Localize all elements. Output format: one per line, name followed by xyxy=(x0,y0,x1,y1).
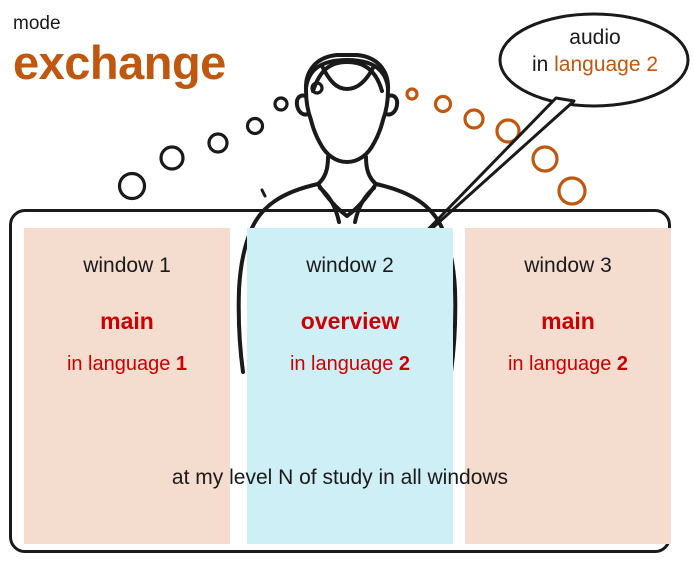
bubble-circle-orange xyxy=(533,147,557,171)
bubble-circle-black xyxy=(312,83,322,93)
bubble-circle-orange xyxy=(497,120,519,142)
bubble-circle-orange xyxy=(465,110,483,128)
footer-note: at my level N of study in all windows xyxy=(9,467,671,488)
window-1-language-prefix: in language xyxy=(67,353,176,375)
orange-circles-group xyxy=(407,89,585,204)
window-2-language-number: 2 xyxy=(399,353,410,375)
window-3-kind: main xyxy=(465,310,671,333)
black-circles-group xyxy=(120,83,323,199)
speech-bubble-line-2-accent: language 2 xyxy=(554,53,658,76)
bubble-circle-orange xyxy=(436,97,451,112)
window-3-language-number: 2 xyxy=(617,353,628,375)
window-2-kind: overview xyxy=(247,310,453,333)
window-3-language-prefix: in language xyxy=(508,353,617,375)
window-1-language-number: 1 xyxy=(176,353,187,375)
page-title: exchange xyxy=(13,38,226,87)
window-2-title: window 2 xyxy=(247,255,453,276)
bubble-circle-black xyxy=(120,174,145,199)
window-1-language: in language 1 xyxy=(24,354,230,374)
speech-bubble-line-2: in language 2 xyxy=(498,52,692,79)
speech-bubble-line-2-prefix: in xyxy=(532,53,554,76)
bubble-circle-orange xyxy=(407,89,417,99)
bubble-circle-orange xyxy=(559,178,585,204)
window-3-language: in language 2 xyxy=(465,354,671,374)
window-2-language-prefix: in language xyxy=(290,353,399,375)
bubble-circle-black xyxy=(209,134,227,152)
bubble-circle-black xyxy=(275,98,287,110)
window-3-title: window 3 xyxy=(465,255,671,276)
speech-bubble-line-1: audio xyxy=(498,25,692,52)
window-2-language: in language 2 xyxy=(247,354,453,374)
window-1-title: window 1 xyxy=(24,255,230,276)
window-1-kind: main xyxy=(24,310,230,333)
bubble-circle-black xyxy=(248,119,263,134)
mode-label: mode xyxy=(13,14,61,33)
window-panel-2[interactable]: window 2 overview in language 2 xyxy=(247,228,453,544)
speech-bubble-text: audio in language 2 xyxy=(498,25,692,79)
window-panel-1[interactable]: window 1 main in language 1 xyxy=(24,228,230,544)
bubble-circle-black xyxy=(161,147,183,169)
window-panel-3[interactable]: window 3 main in language 2 xyxy=(465,228,671,544)
